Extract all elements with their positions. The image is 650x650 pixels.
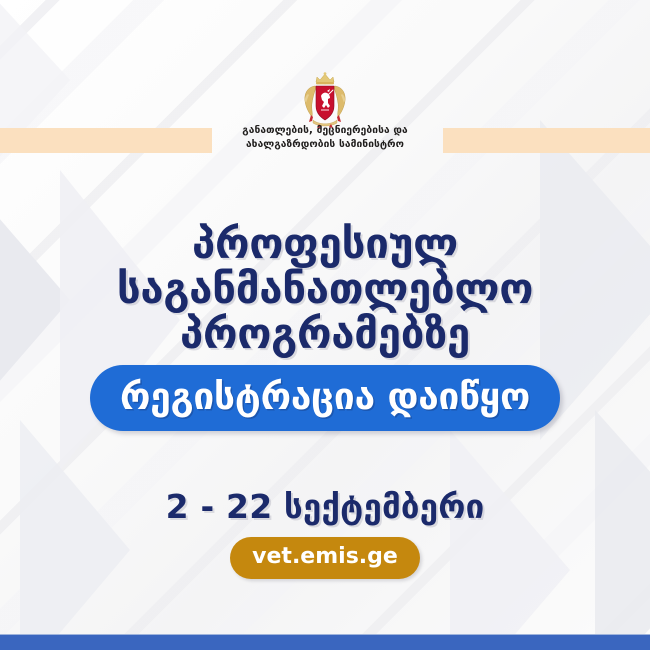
chevron-shape xyxy=(595,410,650,650)
emblem-container xyxy=(0,72,650,130)
registration-open-badge: რეგისტრაცია დაიწყო xyxy=(90,365,560,431)
url-badge-container: vet.emis.ge xyxy=(0,537,650,579)
georgia-coat-of-arms-icon xyxy=(299,72,351,130)
bottom-accent-bar xyxy=(0,634,650,650)
headline: პროფესიულ საგანმანათლებლო პროგრამებზე xyxy=(0,222,650,357)
ministry-name-line1: განათლების, მეცნიერებისა და xyxy=(0,124,650,138)
date-range: 2 - 22 სექტემბერი xyxy=(0,487,650,526)
headline-line2: საგანმანათლებლო xyxy=(0,267,650,312)
website-url-badge[interactable]: vet.emis.ge xyxy=(230,537,420,579)
headline-line1: პროფესიულ xyxy=(0,222,650,267)
ministry-name: განათლების, მეცნიერებისა და ახალგაზრდობი… xyxy=(0,124,650,153)
ministry-name-line2: ახალგაზრდობის სამინისტრო xyxy=(0,138,650,152)
chevron-shape xyxy=(20,420,130,650)
highlight-pill-container: რეგისტრაცია დაიწყო xyxy=(0,365,650,431)
promo-poster: განათლების, მეცნიერებისა და ახალგაზრდობი… xyxy=(0,0,650,650)
headline-line3: პროგრამებზე xyxy=(0,312,650,357)
